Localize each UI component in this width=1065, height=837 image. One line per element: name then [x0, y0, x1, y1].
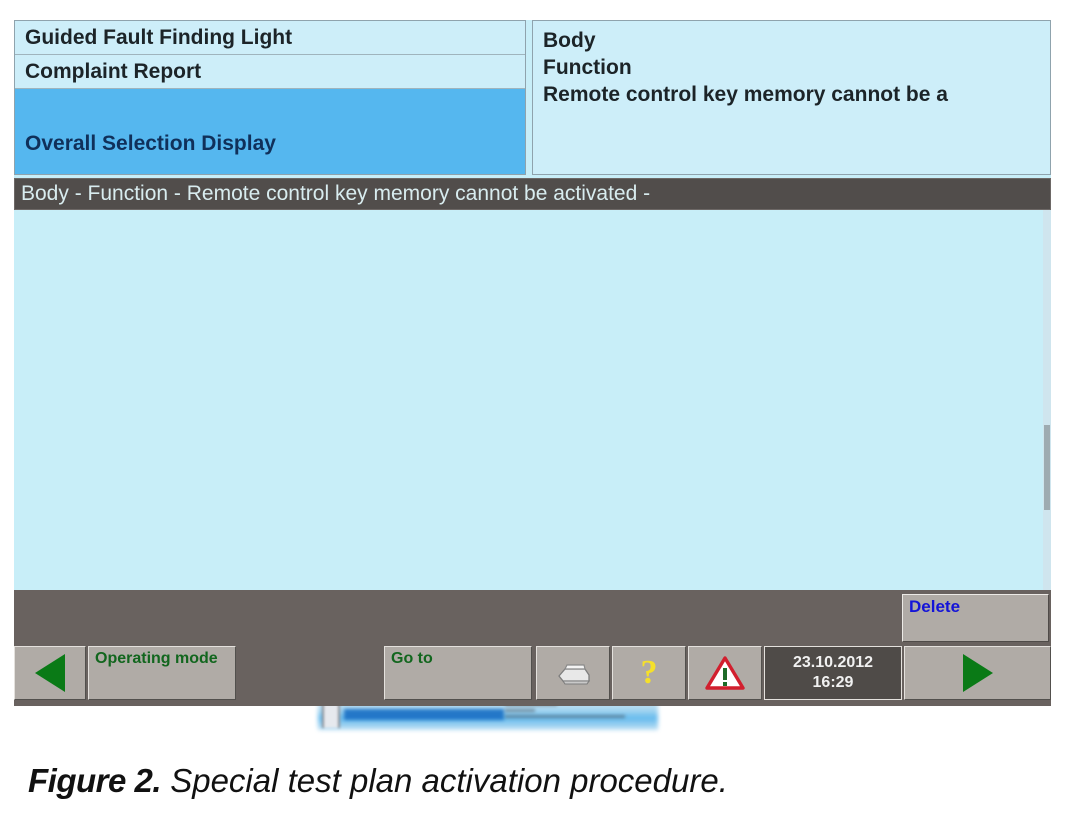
- background-window-text-lines: [505, 703, 655, 727]
- selection-row-overall-selection-display[interactable]: Overall Selection Display: [15, 89, 525, 174]
- work-area-scroll-thumb[interactable]: [1044, 425, 1050, 510]
- background-window-title-bar: [344, 709, 504, 720]
- datetime-time: 16:29: [765, 673, 901, 693]
- detail-panel: Body Function Remote control key memory …: [532, 20, 1051, 175]
- detail-line-body: Body: [543, 27, 1050, 54]
- delete-button-label: Delete: [903, 595, 1048, 617]
- figure-image: Guided Fault Finding Light Complaint Rep…: [0, 0, 1065, 740]
- selection-row-complaint-report[interactable]: Complaint Report: [15, 55, 525, 89]
- breadcrumb-text: Body - Function - Remote control key mem…: [15, 179, 1050, 209]
- work-area: [14, 210, 1051, 590]
- datetime-display: 23.10.2012 16:29: [764, 646, 902, 700]
- arrow-left-icon: [35, 654, 65, 692]
- diagnostic-application-window: Guided Fault Finding Light Complaint Rep…: [14, 20, 1051, 706]
- question-mark-icon: ?: [613, 647, 685, 699]
- selection-list: Guided Fault Finding Light Complaint Rep…: [14, 20, 526, 175]
- breadcrumb-bar: Body - Function - Remote control key mem…: [14, 178, 1051, 210]
- figure-caption: Figure 2. Special test plan activation p…: [28, 762, 1028, 800]
- work-area-scrollbar[interactable]: [1043, 210, 1051, 590]
- next-button[interactable]: [904, 646, 1051, 700]
- print-button[interactable]: [536, 646, 610, 700]
- datetime-text: 23.10.2012 16:29: [765, 653, 901, 693]
- command-bar: Delete Operating mode Go to: [14, 590, 1051, 706]
- warning-triangle-icon: [689, 647, 761, 699]
- header-split: Guided Fault Finding Light Complaint Rep…: [14, 20, 1051, 175]
- selection-row-guided-fault-finding-light[interactable]: Guided Fault Finding Light: [15, 21, 525, 55]
- go-to-button[interactable]: Go to: [384, 646, 532, 700]
- help-button[interactable]: ?: [612, 646, 686, 700]
- operating-mode-button-label: Operating mode: [89, 647, 235, 668]
- detail-line-function: Function: [543, 54, 1050, 81]
- go-to-button-label: Go to: [385, 647, 531, 668]
- datetime-date: 23.10.2012: [765, 653, 901, 673]
- detail-line-fault-description: Remote control key memory cannot be a: [543, 81, 1050, 108]
- arrow-right-icon: [963, 654, 993, 692]
- printer-icon: [537, 647, 609, 699]
- previous-button[interactable]: [14, 646, 86, 700]
- warning-button[interactable]: [688, 646, 762, 700]
- help-glyph: ?: [641, 656, 658, 690]
- operating-mode-button[interactable]: Operating mode: [88, 646, 236, 700]
- delete-button[interactable]: Delete: [902, 594, 1049, 642]
- button-strip: Operating mode Go to: [14, 646, 1051, 706]
- figure-caption-text: Special test plan activation procedure.: [170, 762, 728, 799]
- figure-caption-label: Figure 2.: [28, 762, 161, 799]
